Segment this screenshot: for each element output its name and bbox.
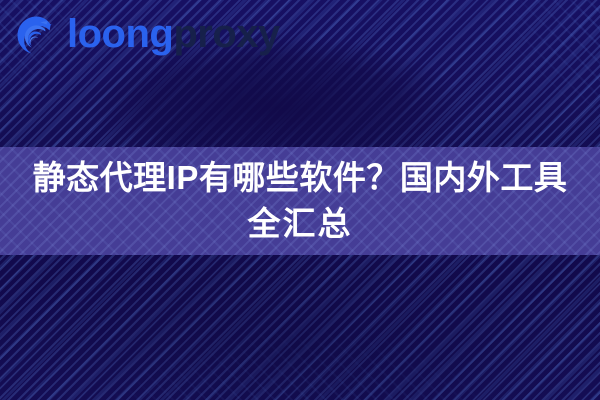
brand-logo[interactable]: loongproxy (12, 8, 280, 60)
brand-wordmark: loongproxy (67, 14, 280, 54)
banner-title-line-1: 静态代理IP有哪些软件？国内外工具 (33, 155, 568, 201)
banner-title-line-2: 全汇总 (248, 201, 353, 247)
brand-wordmark-primary: loong (67, 12, 173, 56)
promo-banner: loongproxy 静态代理IP有哪些软件？国内外工具 全汇总 (0, 0, 600, 400)
title-band: 静态代理IP有哪些软件？国内外工具 全汇总 (0, 147, 600, 255)
brand-wordmark-secondary: proxy (173, 12, 279, 56)
dragon-swirl-icon (12, 11, 58, 57)
